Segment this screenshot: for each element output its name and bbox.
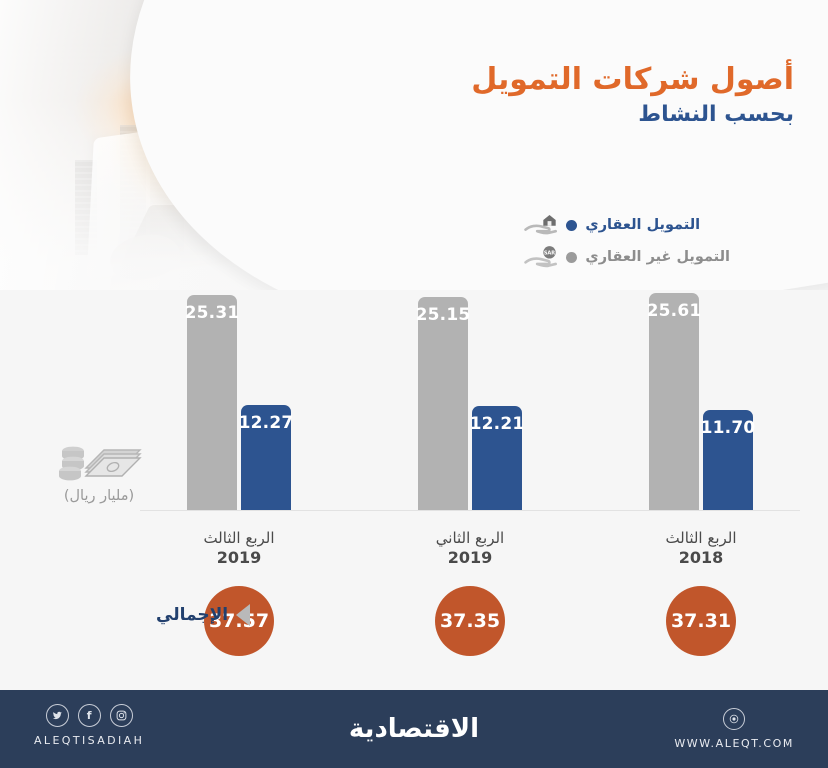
footer-brand-en: ALEQTISADIAH bbox=[34, 734, 144, 747]
bar-pair: 25.15 12.21 bbox=[395, 290, 545, 510]
website-logo-icon bbox=[723, 708, 745, 730]
bar-real-estate[interactable]: 12.27 bbox=[241, 405, 291, 510]
totals-row: الإجمالي 37.57 37.35 37.31 bbox=[140, 586, 800, 678]
bar-non-real-estate[interactable]: 25.31 bbox=[187, 295, 237, 510]
total-cell: 37.35 bbox=[395, 586, 545, 678]
legend-item-real-estate[interactable]: التمويل العقاري bbox=[524, 212, 700, 238]
bar-real-estate[interactable]: 12.21 bbox=[472, 406, 522, 510]
page-subtitle: بحسب النشاط bbox=[471, 101, 794, 130]
total-cell: 37.57 bbox=[164, 586, 314, 678]
footer-left: f ALEQTISADIAH bbox=[34, 704, 144, 747]
category-name: الربع الثالث bbox=[626, 528, 776, 548]
bar-pair: 25.61 11.70 bbox=[626, 290, 776, 510]
facebook-icon[interactable]: f bbox=[78, 704, 101, 727]
bar-value-non-real-estate: 25.61 bbox=[647, 301, 702, 321]
infographic-page: أصول شركات التمويل بحسب النشاط التمويل ا… bbox=[0, 0, 828, 768]
totals-tag-label: الإجمالي bbox=[156, 605, 228, 625]
legend-item-non-real-estate[interactable]: SAR التمويل غير العقاري bbox=[524, 244, 730, 270]
instagram-icon[interactable] bbox=[110, 704, 133, 727]
category-year: 2019 bbox=[164, 548, 314, 568]
bar-group: 25.31 12.27 الربع الثالث 2019 bbox=[164, 290, 314, 590]
unit-label: (مليار ريال) bbox=[44, 488, 154, 504]
bar-real-estate[interactable]: 11.70 bbox=[703, 410, 753, 510]
total-bubble[interactable]: 37.35 bbox=[435, 586, 505, 656]
bar-value-non-real-estate: 25.31 bbox=[185, 303, 240, 323]
totals-tag: الإجمالي bbox=[156, 604, 250, 626]
bar-group: 25.61 11.70 الربع الثالث 2018 bbox=[626, 290, 776, 590]
legend-dot-blue bbox=[566, 220, 577, 231]
footer-right: WWW.ALEQT.COM bbox=[674, 708, 794, 750]
bar-chart: (مليار ريال) 25.31 12.27 الربع الثالث 20… bbox=[0, 290, 828, 590]
bar-groups: 25.31 12.27 الربع الثالث 2019 25.15 bbox=[140, 290, 800, 590]
unit-block: (مليار ريال) bbox=[44, 438, 154, 504]
category-label: الربع الثالث 2019 bbox=[164, 528, 314, 568]
legend-label-non-real-estate: التمويل غير العقاري bbox=[585, 249, 730, 265]
twitter-icon[interactable] bbox=[46, 704, 69, 727]
bar-value-real-estate: 12.21 bbox=[470, 414, 525, 434]
bar-value-non-real-estate: 25.15 bbox=[416, 305, 471, 325]
bar-non-real-estate[interactable]: 25.15 bbox=[418, 297, 468, 510]
bar-group: 25.15 12.21 الربع الثاني 2019 bbox=[395, 290, 545, 590]
bar-non-real-estate[interactable]: 25.61 bbox=[649, 293, 699, 510]
category-label: الربع الثاني 2019 bbox=[395, 528, 545, 568]
title-block: أصول شركات التمويل بحسب النشاط bbox=[471, 62, 794, 129]
money-cash-icon bbox=[44, 438, 154, 484]
footer-brand-ar: الاقتصادية bbox=[349, 714, 479, 744]
svg-text:SAR: SAR bbox=[544, 251, 555, 257]
social-links: f bbox=[34, 704, 144, 727]
category-name: الربع الثاني bbox=[395, 528, 545, 548]
chart-legend: التمويل العقاري SAR التمويل غير العقاري bbox=[524, 212, 730, 270]
hand-holding-coin-icon: SAR bbox=[524, 244, 558, 270]
category-label: الربع الثالث 2018 bbox=[626, 528, 776, 568]
bar-value-real-estate: 11.70 bbox=[701, 418, 756, 438]
footer-url[interactable]: WWW.ALEQT.COM bbox=[674, 737, 794, 750]
bar-pair: 25.31 12.27 bbox=[164, 290, 314, 510]
total-cell: 37.31 bbox=[626, 586, 776, 678]
footer-bar: f ALEQTISADIAH الاقتصادية WWW.ALEQT.COM bbox=[0, 690, 828, 768]
total-bubble[interactable]: 37.31 bbox=[666, 586, 736, 656]
category-year: 2018 bbox=[626, 548, 776, 568]
category-year: 2019 bbox=[395, 548, 545, 568]
page-title: أصول شركات التمويل bbox=[471, 62, 794, 99]
hand-holding-house-icon bbox=[524, 212, 558, 238]
category-name: الربع الثالث bbox=[164, 528, 314, 548]
legend-label-real-estate: التمويل العقاري bbox=[585, 217, 700, 233]
triangle-pointer-icon bbox=[236, 604, 250, 626]
legend-dot-gray bbox=[566, 252, 577, 263]
bar-value-real-estate: 12.27 bbox=[239, 413, 294, 433]
